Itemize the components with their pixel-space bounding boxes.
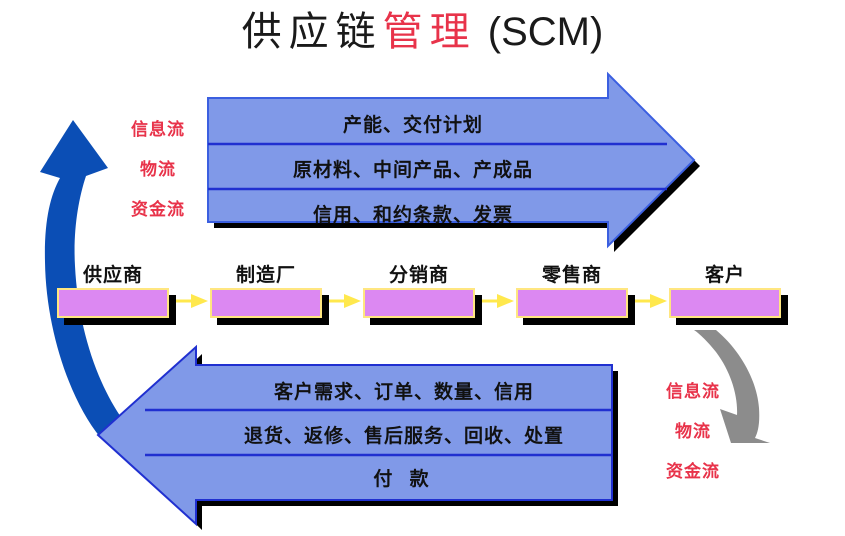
flow-label-material: 物流	[645, 412, 741, 452]
flow-label-material: 物流	[110, 150, 206, 190]
chain-node-box[interactable]	[669, 288, 781, 318]
top-arrow-row-text: 信用、和约条款、发票	[208, 200, 618, 227]
flow-label-capital: 资金流	[110, 190, 206, 230]
flow-legend-left: 信息流 物流 资金流	[110, 110, 206, 230]
chain-connector	[631, 294, 667, 308]
flow-legend-right: 信息流 物流 资金流	[645, 372, 741, 492]
diagram-canvas: 供应链管理 (SCM)	[0, 0, 845, 536]
chain-node-label: 制造厂	[210, 260, 322, 287]
chain-node-box[interactable]	[57, 288, 169, 318]
chain-node-label: 零售商	[516, 260, 628, 287]
flow-label-capital: 资金流	[645, 452, 741, 492]
flow-label-information: 信息流	[110, 110, 206, 150]
chain-node-label: 供应商	[57, 260, 169, 287]
chain-connector	[325, 294, 361, 308]
top-arrow-row-text: 原材料、中间产品、产成品	[208, 155, 618, 182]
chain-connector	[172, 294, 208, 308]
chain-node-label: 分销商	[363, 260, 475, 287]
bottom-arrow-row-text: 付 款	[196, 464, 612, 491]
bottom-arrow-row-text: 退货、返修、售后服务、回收、处置	[196, 421, 612, 448]
chain-connector	[478, 294, 514, 308]
chain-node-box[interactable]	[210, 288, 322, 318]
chain-node-label: 客户	[669, 260, 781, 287]
flow-label-information: 信息流	[645, 372, 741, 412]
chain-node-box[interactable]	[363, 288, 475, 318]
bottom-arrow-row-text-value: 付 款	[373, 469, 434, 490]
chain-node-box[interactable]	[516, 288, 628, 318]
top-arrow-row-text: 产能、交付计划	[208, 110, 618, 137]
bottom-arrow-row-text: 客户需求、订单、数量、信用	[196, 377, 612, 404]
